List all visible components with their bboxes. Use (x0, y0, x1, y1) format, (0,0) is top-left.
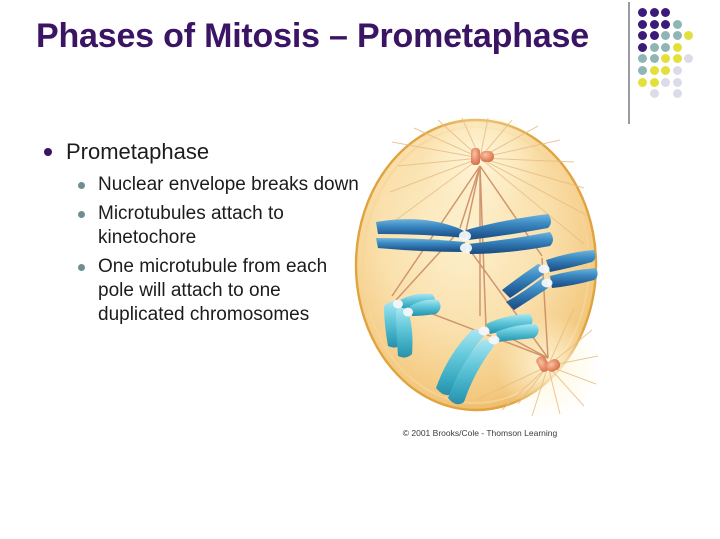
bullet-level2-text: Microtubules attach to kinetochore (98, 203, 284, 248)
dot-8-1-none (638, 89, 647, 98)
dot-1-3-purple (661, 8, 670, 17)
slide-canvas: Phases of Mitosis – Prometaphase Prometa… (0, 0, 720, 539)
dot-2-1-purple (638, 20, 647, 29)
dot-grid-row-2 (638, 20, 696, 32)
dot-1-2-purple (650, 8, 659, 17)
dot-4-1-purple (638, 43, 647, 52)
bullet-level2-text: Nuclear envelope breaks down (98, 174, 359, 195)
dot-1-1-purple (638, 8, 647, 17)
bullet-level2-text: One microtubule from each pole will atta… (98, 256, 327, 325)
kinetochore (539, 265, 550, 274)
dot-grid-row-3 (638, 31, 696, 43)
dot-6-2-yellow (650, 66, 659, 75)
vertical-rule-divider (628, 2, 630, 124)
dot-6-1-teal (638, 66, 647, 75)
dot-grid-row-1 (638, 8, 696, 20)
prometaphase-cell-illustration (352, 118, 608, 418)
bullet-level2-item-3: One microtubule from each pole will atta… (36, 255, 366, 327)
slide-title: Phases of Mitosis – Prometaphase (36, 16, 606, 56)
dot-7-5-none (684, 78, 693, 87)
dot-grid-rows (638, 8, 696, 101)
sub-bullet-marker-icon (78, 182, 85, 189)
dot-grid-row-4 (638, 43, 696, 55)
bullet-level1-prometaphase: Prometaphase (36, 138, 366, 167)
dot-8-4-pale (673, 89, 682, 98)
kinetochore (393, 300, 403, 309)
dot-1-5-none (684, 8, 693, 17)
dot-3-2-purple (650, 31, 659, 40)
kinetochore (459, 231, 471, 241)
bullet-list: Prometaphase Nuclear envelope breaks dow… (36, 138, 366, 332)
dot-2-5-none (684, 20, 693, 29)
dot-6-3-yellow (661, 66, 670, 75)
kinetochore (403, 308, 413, 317)
dot-7-4-pale (673, 78, 682, 87)
bullet-level2-item-2: Microtubules attach to kinetochore (36, 202, 366, 250)
dot-8-2-pale (650, 89, 659, 98)
dot-5-1-teal (638, 54, 647, 63)
dot-1-4-none (673, 8, 682, 17)
sub-bullet-marker-icon (78, 211, 85, 218)
dot-4-2-teal (650, 43, 659, 52)
dot-8-5-none (684, 89, 693, 98)
decorative-dot-grid (622, 0, 720, 132)
bullet-level2-item-1: Nuclear envelope breaks down (36, 173, 366, 197)
dot-3-3-teal (661, 31, 670, 40)
dot-7-2-yellow (650, 78, 659, 87)
dot-4-4-yellow (673, 43, 682, 52)
dot-grid-row-8 (638, 89, 696, 101)
cell-diagram-figure: © 2001 Brooks/Cole - Thomson Learning (352, 118, 608, 448)
dot-grid-row-5 (638, 54, 696, 66)
dot-grid-row-7 (638, 78, 696, 90)
kinetochore (460, 243, 472, 253)
bullet-level1-text: Prometaphase (66, 139, 209, 164)
dot-2-3-purple (661, 20, 670, 29)
dot-3-1-purple (638, 31, 647, 40)
dot-6-5-none (684, 66, 693, 75)
dot-5-5-pale (684, 54, 693, 63)
dot-5-4-yellow (673, 54, 682, 63)
dot-grid-row-6 (638, 66, 696, 78)
kinetochore (542, 279, 553, 288)
kinetochore (489, 336, 500, 345)
bullet-marker-icon (44, 148, 52, 156)
dot-5-2-teal (650, 54, 659, 63)
dot-7-3-pale (661, 78, 670, 87)
dot-7-1-yellow (638, 78, 647, 87)
dot-6-4-pale (673, 66, 682, 75)
dot-4-3-teal (661, 43, 670, 52)
dot-5-3-yellow (661, 54, 670, 63)
dot-2-4-teal (673, 20, 682, 29)
dot-8-3-none (661, 89, 670, 98)
dot-3-4-teal (673, 31, 682, 40)
figure-credit: © 2001 Brooks/Cole - Thomson Learning (352, 428, 608, 438)
kinetochore (479, 327, 490, 336)
dot-3-5-yellow (684, 31, 693, 40)
dot-4-5-none (684, 43, 693, 52)
sub-bullet-marker-icon (78, 264, 85, 271)
dot-2-2-purple (650, 20, 659, 29)
